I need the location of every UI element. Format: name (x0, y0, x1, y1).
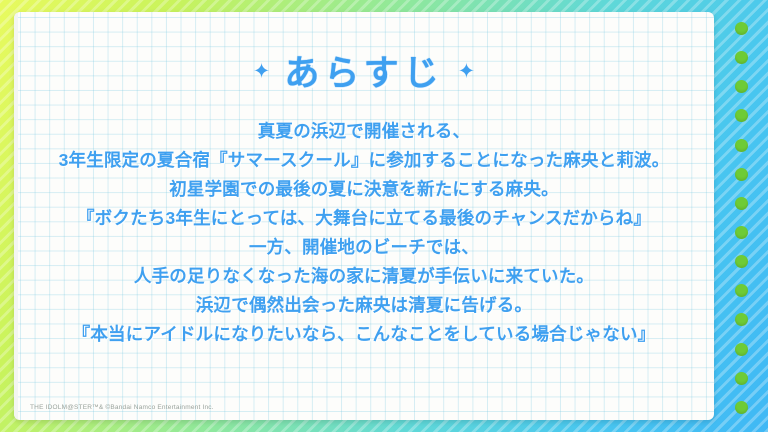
binding-dot (735, 401, 748, 414)
sparkle-left-icon: ✦ (253, 61, 271, 82)
synopsis-line: 人手の足りなくなった海の家に清夏が手伝いに来ていた。 (14, 262, 714, 291)
binding-dot (735, 109, 748, 122)
notepad-paper: ✦ あらすじ ✦ 真夏の浜辺で開催される、 3年生限定の夏合宿『サマースクール』… (14, 12, 714, 420)
binding-dot (735, 343, 748, 356)
synopsis-body: 真夏の浜辺で開催される、 3年生限定の夏合宿『サマースクール』に参加することにな… (14, 117, 714, 349)
binding-dot (735, 372, 748, 385)
binding-dot (735, 313, 748, 326)
binding-dot (735, 168, 748, 181)
binding-dot (735, 139, 748, 152)
synopsis-line: 3年生限定の夏合宿『サマースクール』に参加することになった麻央と莉波。 (14, 146, 714, 175)
binding-dot (735, 80, 748, 93)
synopsis-line: 真夏の浜辺で開催される、 (14, 117, 714, 146)
synopsis-line: 『ボクたち3年生にとっては、大舞台に立てる最後のチャンスだからね』 (14, 204, 714, 233)
binding-dot (735, 22, 748, 35)
title-row: ✦ あらすじ ✦ (253, 56, 476, 91)
binding-dot (735, 255, 748, 268)
spiral-binding (732, 22, 750, 414)
synopsis-line: 『本当にアイドルになりたいなら、こんなことをしている場合じゃない』 (14, 320, 714, 349)
copyright-text: THE IDOLM@STER™& ©Bandai Namco Entertain… (30, 404, 214, 411)
binding-dot (735, 226, 748, 239)
binding-dot (735, 51, 748, 64)
synopsis-content: ✦ あらすじ ✦ 真夏の浜辺で開催される、 3年生限定の夏合宿『サマースクール』… (14, 12, 714, 420)
page-background: ✦ あらすじ ✦ 真夏の浜辺で開催される、 3年生限定の夏合宿『サマースクール』… (0, 0, 768, 432)
synopsis-line: 浜辺で偶然出会った麻央は清夏に告げる。 (14, 291, 714, 320)
synopsis-line: 初星学園での最後の夏に決意を新たにする麻央。 (14, 175, 714, 204)
page-title: あらすじ (284, 56, 443, 91)
binding-dot (735, 197, 748, 210)
synopsis-line: 一方、開催地のビーチでは、 (14, 233, 714, 262)
binding-dot (735, 284, 748, 297)
sparkle-right-icon: ✦ (458, 61, 476, 82)
